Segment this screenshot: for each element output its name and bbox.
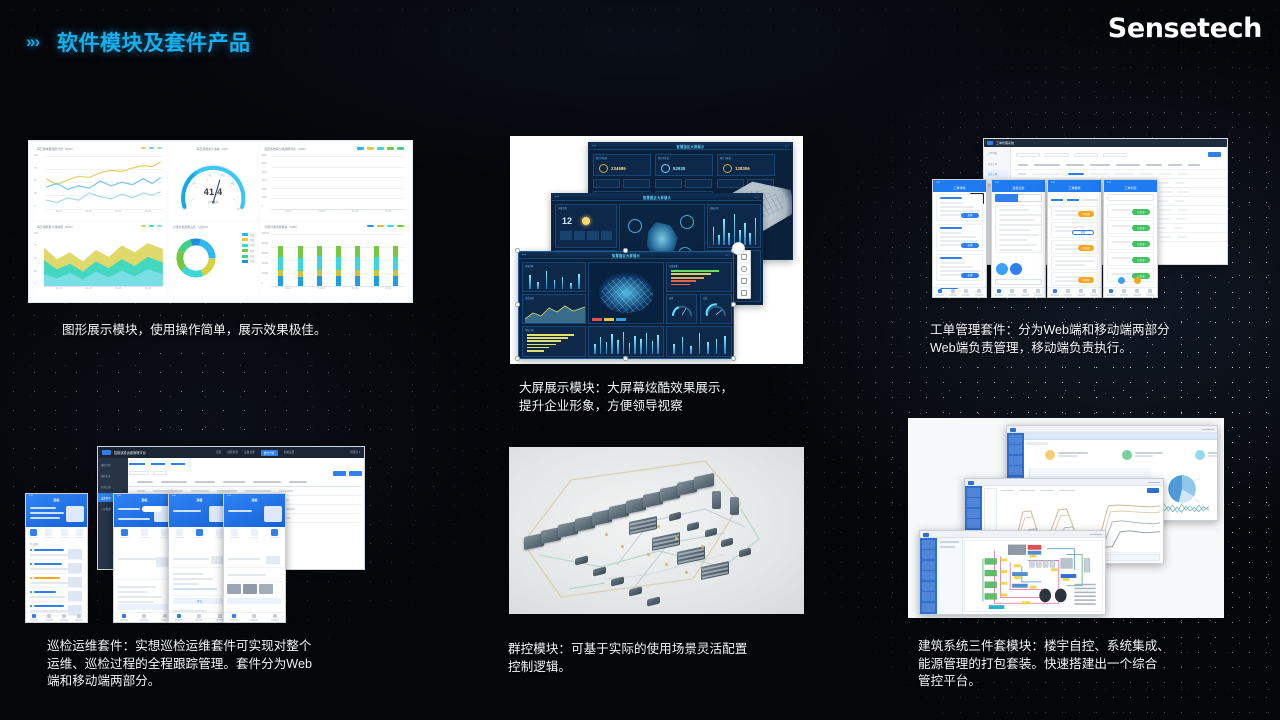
- graph-module-screenshot[interactable]: 每日用电量趋势分析（kWh） 1007550250 01-0101-0201-0…: [28, 140, 413, 303]
- cooling-tower: [730, 497, 739, 515]
- slide-header: »› 软件模块及套件产品 Sensetech: [0, 0, 1280, 72]
- groupcontrol-module-screenshot[interactable]: [509, 447, 804, 614]
- chart-grouped-bar-buildings: 园区各楼栋分类用能对比（kWh） 60005000400030002000100…: [260, 144, 408, 219]
- gauge-value: 41.4: [169, 187, 258, 197]
- sidebar[interactable]: [920, 538, 937, 614]
- search-button[interactable]: [1208, 152, 1221, 157]
- chart-legend: A类 B类 C类 D类 E类 F类: [242, 233, 254, 264]
- sidebar-item[interactable]: 巡检计划: [98, 460, 128, 469]
- caption-building-suite: 建筑系统三件套模块：楼宇自控、系统集成、 能源管理的打包套装。快速搭建出一个综合…: [918, 638, 1248, 691]
- rotate-icon[interactable]: [738, 275, 750, 287]
- building-window-scada[interactable]: [919, 530, 1106, 615]
- inspection-phone-2[interactable]: 9:41巡检: [113, 493, 176, 623]
- chart-stacked-bar-category: 分项分类用能能耗（kWh） 10000080000600004000020000…: [260, 222, 408, 297]
- list-item[interactable]: [226, 554, 283, 568]
- query-button[interactable]: [333, 471, 346, 476]
- reset-button[interactable]: [349, 471, 362, 476]
- svg-text:60: 60: [221, 173, 225, 177]
- list-item[interactable]: [28, 547, 85, 560]
- sidebar-item[interactable]: 工单列表: [986, 149, 1008, 158]
- more-icon[interactable]: [738, 287, 750, 299]
- slide: »› 软件模块及套件产品 Sensetech 每日用电量趋势分析（kWh） 10…: [0, 0, 1280, 720]
- list-item[interactable]: [171, 570, 228, 596]
- table-row[interactable]: [1012, 170, 1227, 179]
- list-item[interactable]: [28, 561, 85, 574]
- workorder-phone-1[interactable]: 9:41工单详情 处理 处理 处理: [932, 179, 987, 298]
- caption-bigscreen-module: 大屏展示模块：大屏幕炫酷效果展示， 提升企业形象，方便领导视察: [519, 380, 819, 415]
- svg-text:40: 40: [208, 173, 212, 177]
- inspection-suite-screenshot[interactable]: 智能巡检运维管理平台 首页 巡检任务 设备台账 统计分析 系统设置 管理员 ▾ …: [25, 440, 365, 625]
- caption-graph-module: 图形展示模块，使用操作简单，展示效果极佳。: [62, 322, 402, 340]
- chart-legend: [367, 225, 404, 228]
- list-item[interactable]: [28, 575, 85, 588]
- chevron-right-icon: »›: [26, 33, 39, 50]
- chart-line-daily-power: 每日用电量趋势分析（kWh） 1007550250 01-0101-0201-0…: [33, 144, 166, 219]
- bigscreen-window-front[interactable]: ●●●智慧园区大屏展示⚙ ⤢ 用电趋势 负荷曲线 排名分析: [518, 251, 734, 359]
- inspection-phone-3[interactable]: 9:41巡检 提交: [168, 493, 231, 623]
- cooling-tower: [712, 491, 721, 509]
- list-item[interactable]: [28, 589, 85, 602]
- workorder-suite-screenshot[interactable]: 工单管理系统 工单列表 待办工单 已办工单 统计报表: [928, 130, 1228, 305]
- zoom-icon[interactable]: [738, 263, 750, 275]
- caption-workorder-suite: 工单管理套件：分为Web端和移动端两部分 Web端负责管理，移动端负责执行。: [930, 322, 1250, 357]
- gauge-label: 实时功率: [169, 200, 258, 204]
- caption-groupcontrol-module: 群控模块：可基于实际的使用场景灵活配置 控制逻辑。: [508, 641, 818, 676]
- workorder-phone-3[interactable]: 9:41工单报修 待处理 查看 待处理 待处理: [1047, 179, 1102, 298]
- inspection-phone-1[interactable]: 9:41巡检 今日巡检: [25, 493, 88, 623]
- chart-legend: [141, 147, 162, 149]
- image-edit-toolbar[interactable]: [737, 250, 751, 299]
- image-action-icon[interactable]: [732, 242, 745, 255]
- search-input[interactable]: [1107, 194, 1154, 201]
- nav-item[interactable]: 系统设置: [284, 450, 295, 456]
- chart-donut-category: 分项分类用能占比（占比%） A类 B类 C类 D类: [169, 222, 258, 297]
- sidebar-item[interactable]: 异常上报: [98, 482, 128, 491]
- building-suite-screenshot[interactable]: [908, 418, 1224, 618]
- nav-item[interactable]: 设备台账: [244, 450, 255, 456]
- chart-gauge-energy: 每日用能累计消耗（kW）: [169, 144, 258, 219]
- bigscreen-module-screenshot[interactable]: ●●●智慧园区大屏展示⚙ ⤢ 累计用电量 234689 累计用水量 52935 …: [510, 136, 803, 364]
- chart-legend: [141, 225, 162, 227]
- svg-text:0: 0: [185, 207, 187, 211]
- caption-inspection-suite: 巡检运维套件：实想巡检运维套件可实现对整个 运维、巡检过程的全程跟踪管理。套件分…: [47, 638, 387, 691]
- svg-text:100: 100: [236, 207, 241, 211]
- svg-text:20: 20: [192, 181, 196, 185]
- workorder-phone-2[interactable]: 9:41巡检任务: [991, 179, 1046, 298]
- nav-item[interactable]: 首页: [216, 450, 221, 456]
- brand-logo: Sensetech: [1108, 13, 1262, 44]
- photo-attachments[interactable]: [227, 584, 273, 594]
- list-item[interactable]: [226, 570, 283, 582]
- nav-item[interactable]: 巡检任务: [227, 450, 238, 456]
- workorder-phone-4[interactable]: 9:41工单列表 已完成 已完成 已完成 已完成 已完成: [1103, 179, 1158, 298]
- scada-diagram: [965, 541, 1102, 611]
- submit-button[interactable]: 提交: [173, 598, 226, 604]
- list-item[interactable]: [116, 554, 173, 580]
- chart-area-cumulative: 每日用能累计消耗量（kWh） 1007550250 01-0101-0201-0…: [33, 222, 166, 297]
- export-button[interactable]: [1147, 488, 1159, 493]
- page-title: 软件模块及套件产品: [57, 27, 251, 57]
- nav-item[interactable]: 统计分析: [261, 450, 278, 456]
- chart-legend: [357, 147, 404, 150]
- svg-text:80: 80: [231, 181, 235, 185]
- sidebar-item[interactable]: 巡检记录: [98, 471, 128, 480]
- sidebar-item[interactable]: 待办工单: [986, 160, 1008, 169]
- illustration: [66, 506, 84, 522]
- list-item[interactable]: [171, 554, 228, 568]
- inspection-phone-4[interactable]: 9:41巡检: [223, 493, 286, 623]
- sidebar-item[interactable]: 已办工单: [986, 170, 1008, 179]
